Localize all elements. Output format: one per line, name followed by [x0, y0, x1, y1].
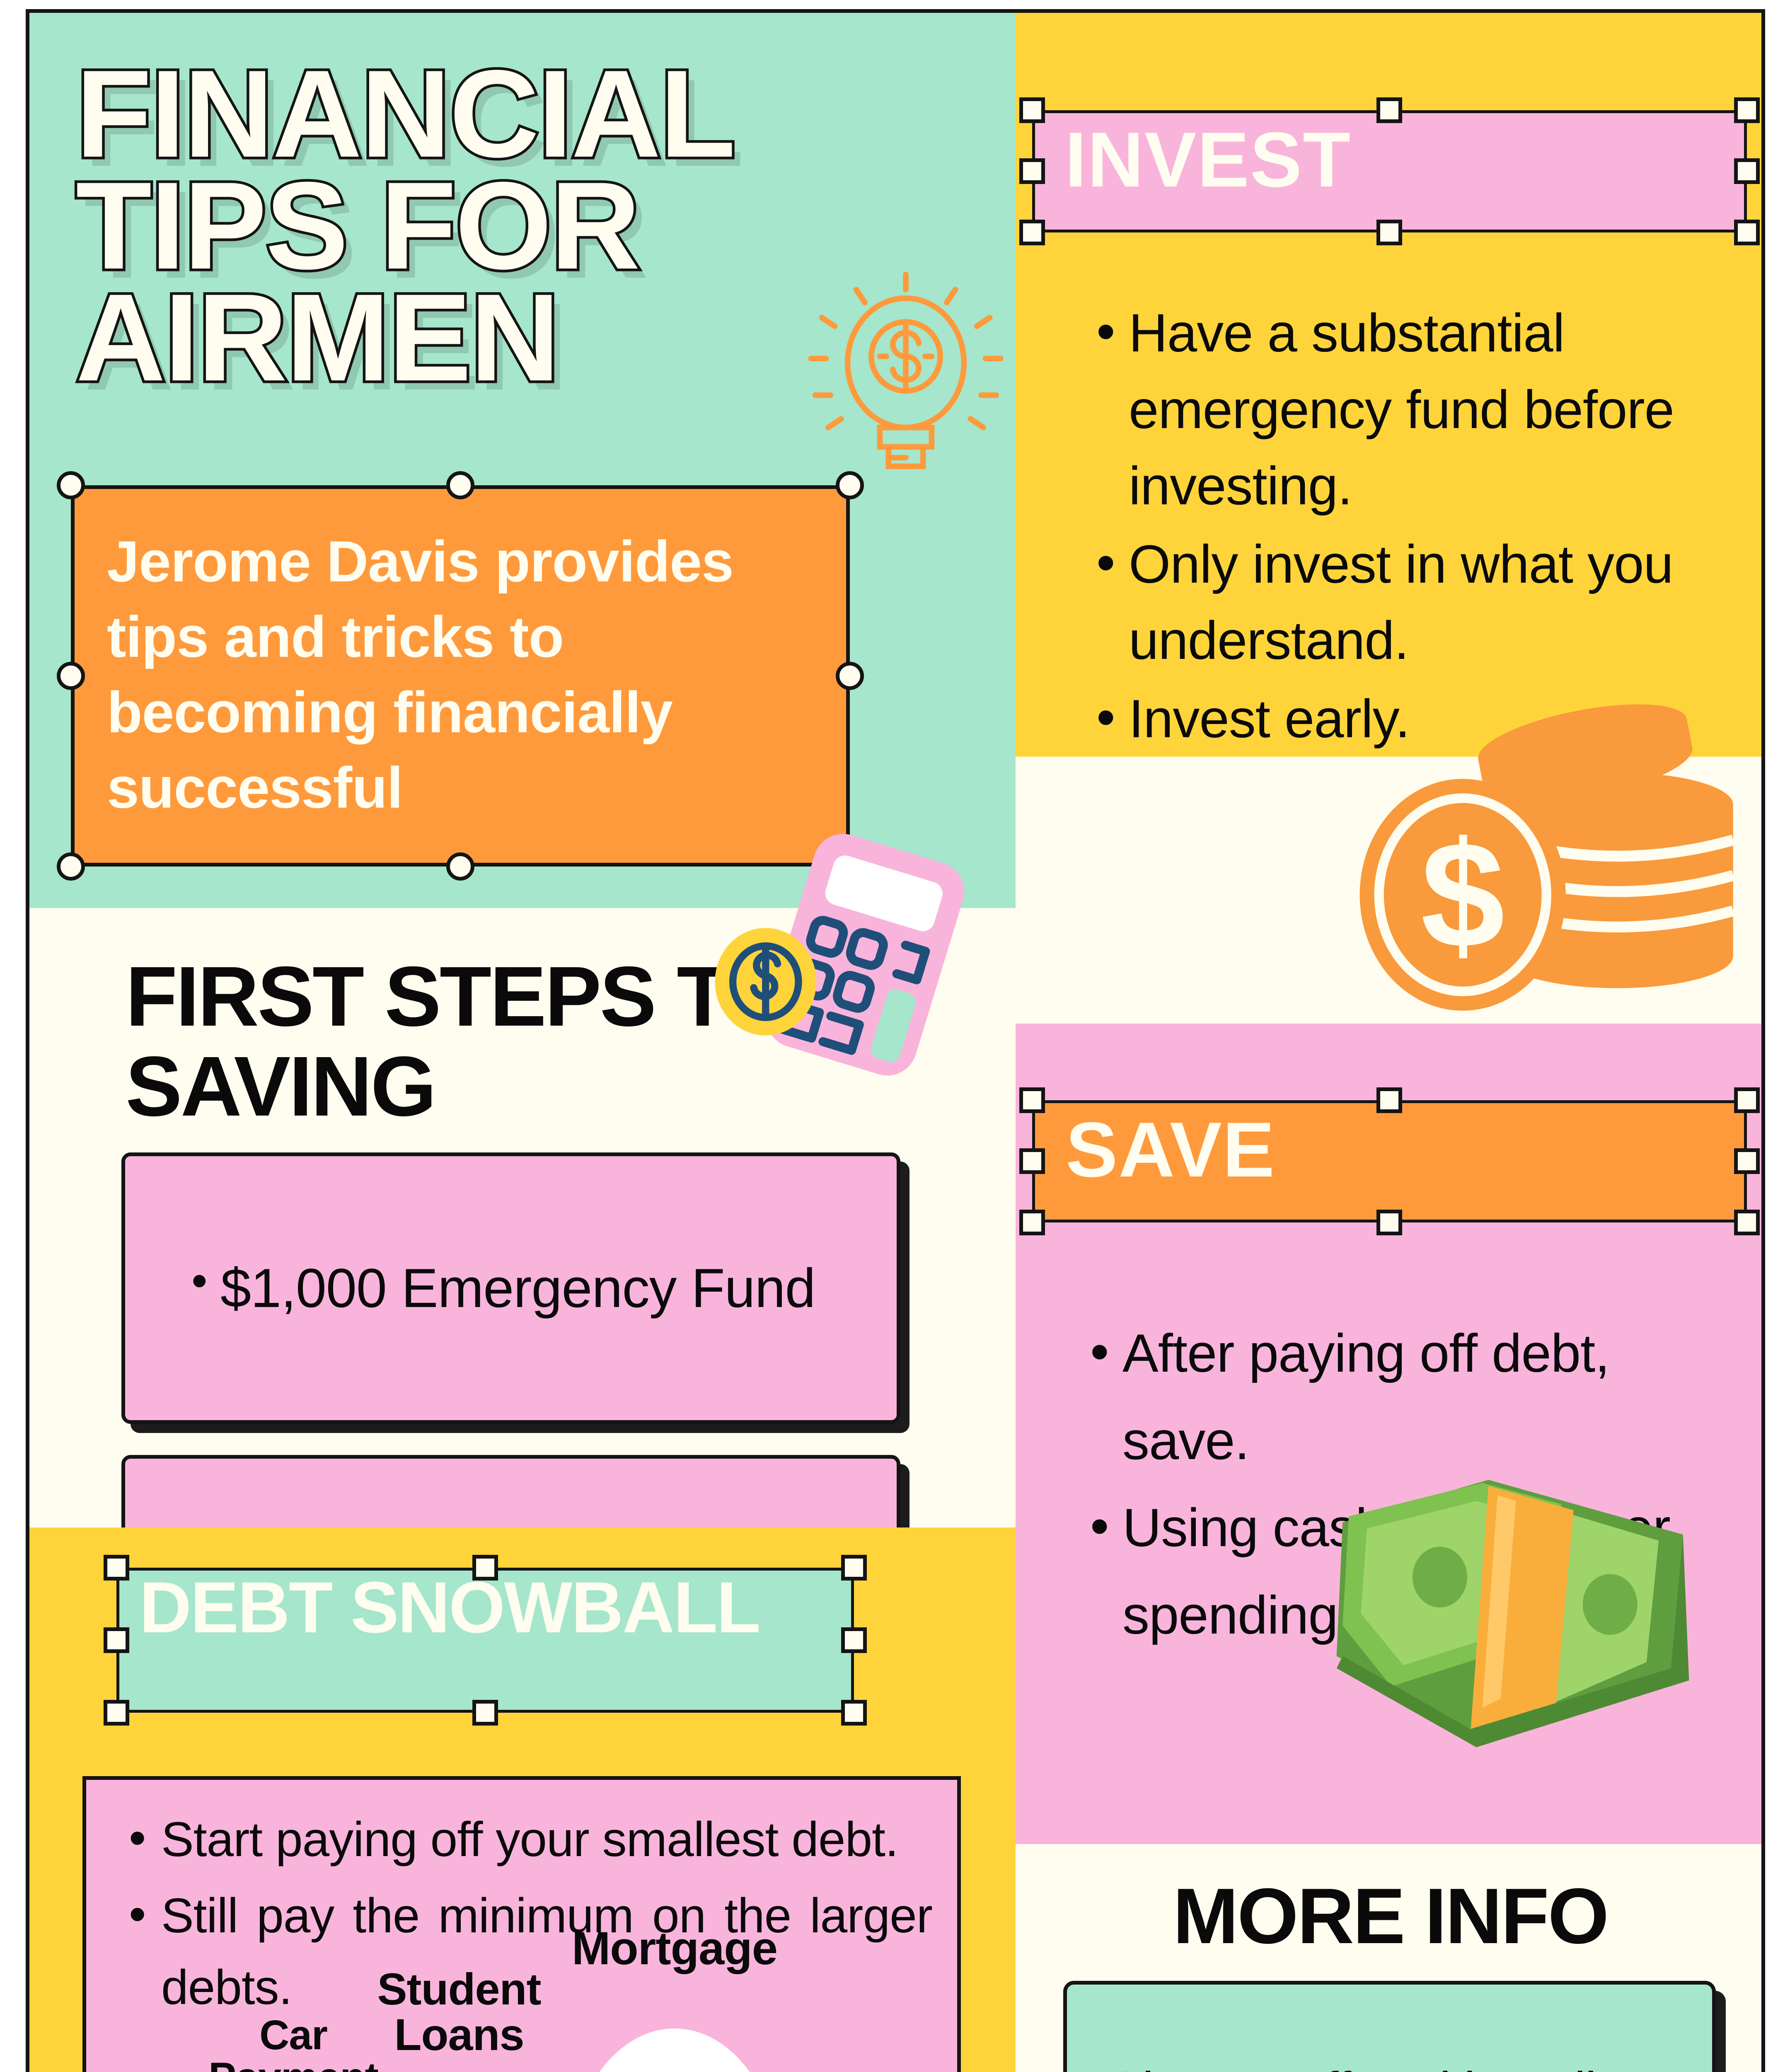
- calculator-icon: [709, 784, 1007, 1090]
- more-info-box: Classes offered in Fall 2021 Call (580) …: [1063, 1981, 1716, 2072]
- coin-stack-band: $: [1016, 757, 1765, 1024]
- debt-snowball-heading: DEBT SNOWBALL: [139, 1574, 847, 1642]
- save-heading-box: SAVE: [1032, 1100, 1747, 1222]
- handle-top-center[interactable]: [1376, 97, 1402, 123]
- quote-text: Jerome Davis provides tips and tricks to…: [107, 524, 821, 825]
- coin-stack-icon: $: [1353, 695, 1765, 1018]
- handle-top-right[interactable]: [836, 471, 864, 499]
- handle-top-center[interactable]: [446, 471, 474, 499]
- handle-top-right[interactable]: [1734, 97, 1760, 123]
- handle-bottom-right[interactable]: [1734, 220, 1760, 245]
- debt-size-chart: CreditCard $ CarPayment $ StudentLoans $…: [86, 2012, 957, 2072]
- header-panel: FINANCIAL TIPS FOR AIRMEN Jerome Davis p…: [29, 13, 1016, 908]
- handle-mid-left[interactable]: [104, 1627, 129, 1653]
- debt-snowball-panel: DEBT SNOWBALL Start paying off your smal…: [29, 1527, 1016, 2072]
- debt-circle-mortgage: Mortgage $: [567, 2028, 782, 2072]
- lightbulb-dollar-icon: [798, 259, 1014, 475]
- handle-bottom-right[interactable]: [841, 1700, 867, 1726]
- handle-mid-right[interactable]: [1734, 158, 1760, 184]
- save-heading-selection-group[interactable]: SAVE: [1032, 1100, 1747, 1222]
- handle-bottom-center[interactable]: [1376, 1210, 1402, 1235]
- handle-mid-left[interactable]: [57, 662, 85, 690]
- debt-heading-selection-group[interactable]: DEBT SNOWBALL: [116, 1568, 854, 1713]
- first-steps-panel: FIRST STEPS TO SAVING: [29, 908, 1016, 1527]
- handle-top-right[interactable]: [841, 1555, 867, 1581]
- handle-top-left[interactable]: [104, 1555, 129, 1581]
- invest-panel: INVEST Have a substantial emergency fund…: [1016, 13, 1765, 757]
- step-label: $1,000 Emergency Fund: [220, 1257, 815, 1320]
- handle-mid-right[interactable]: [836, 662, 864, 690]
- handle-mid-left[interactable]: [1019, 1148, 1045, 1174]
- handle-mid-right[interactable]: [841, 1627, 867, 1653]
- handle-top-left[interactable]: [57, 471, 85, 499]
- list-item: Start paying off your smallest debt.: [161, 1804, 932, 1875]
- more-info-heading: MORE INFO: [1016, 1871, 1765, 1961]
- list-item: After paying off debt, save.: [1122, 1310, 1736, 1484]
- right-column: INVEST Have a substantial emergency fund…: [1016, 13, 1765, 2072]
- more-info-panel: MORE INFO Classes offered in Fall 2021 C…: [1016, 1844, 1765, 2072]
- handle-bottom-center[interactable]: [1376, 220, 1402, 245]
- invest-heading-selection-group[interactable]: INVEST: [1032, 110, 1747, 232]
- invest-heading: INVEST: [1065, 115, 1351, 204]
- handle-top-right[interactable]: [1734, 1087, 1760, 1113]
- handle-mid-left[interactable]: [1019, 158, 1045, 184]
- handle-bottom-left[interactable]: [57, 852, 85, 881]
- handle-bottom-left[interactable]: [104, 1700, 129, 1726]
- left-column: FINANCIAL TIPS FOR AIRMEN Jerome Davis p…: [29, 13, 1016, 2072]
- list-item: Still pay the minimum on the larger debt…: [161, 1880, 932, 2023]
- invest-heading-box: INVEST: [1032, 110, 1747, 232]
- invest-bullet-list: Have a substantial emergency fund before…: [1096, 295, 1728, 757]
- handle-top-left[interactable]: [1019, 97, 1045, 123]
- handle-top-center[interactable]: [1376, 1087, 1402, 1113]
- handle-top-left[interactable]: [1019, 1087, 1045, 1113]
- handle-bottom-left[interactable]: [1019, 220, 1045, 245]
- handle-bottom-center[interactable]: [446, 852, 474, 881]
- infographic-poster: FINANCIAL TIPS FOR AIRMEN Jerome Davis p…: [26, 9, 1765, 2072]
- list-item: Only invest in what you understand.: [1129, 526, 1728, 679]
- list-item: Have a substantial emergency fund before…: [1129, 295, 1728, 524]
- save-panel: SAVE After paying off debt, save. Using …: [1016, 1024, 1765, 1844]
- handle-bottom-center[interactable]: [472, 1700, 498, 1726]
- list-item[interactable]: $1,000 Emergency Fund: [121, 1152, 900, 1424]
- svg-text:$: $: [1421, 810, 1505, 979]
- save-heading: SAVE: [1066, 1105, 1275, 1194]
- debt-body-box: Start paying off your smallest debt. Sti…: [82, 1776, 961, 2072]
- handle-bottom-left[interactable]: [1019, 1210, 1045, 1235]
- handle-top-center[interactable]: [472, 1555, 498, 1581]
- handle-bottom-right[interactable]: [1734, 1210, 1760, 1235]
- debt-heading-box: DEBT SNOWBALL: [116, 1568, 854, 1713]
- more-info-text: Classes offered in Fall 2021 Call (580) …: [1106, 2051, 1683, 2072]
- cash-bundle-icon: [1330, 1467, 1695, 1757]
- handle-mid-right[interactable]: [1734, 1148, 1760, 1174]
